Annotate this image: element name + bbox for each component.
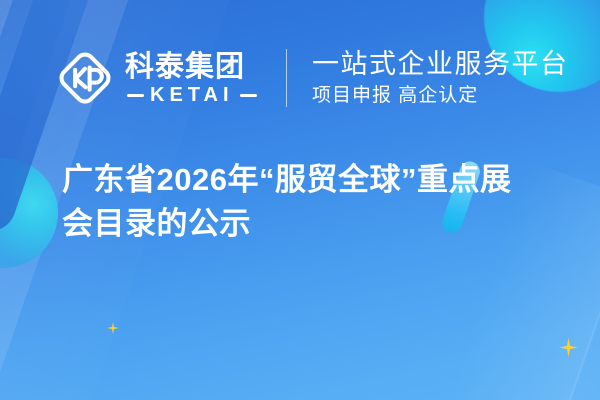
sparkle-icon <box>559 338 578 357</box>
page-title: 广东省2026年“服贸全球”重点展 会目录的公示 <box>62 158 542 246</box>
sparkle-icon <box>107 322 119 334</box>
brand-name-en: KETAI <box>150 85 234 106</box>
article-cover-banner: 科泰集团 KETAI 一站式企业服务平台 项目申报 高企认定 广东省2026年“… <box>0 0 600 400</box>
wordmark-rule-right <box>240 94 257 97</box>
wordmark-rule-left <box>127 94 144 97</box>
page-title-line-1: 广东省2026年“服贸全球”重点展 <box>62 158 542 202</box>
brand-logo: 科泰集团 KETAI <box>56 49 257 107</box>
tagline-secondary: 项目申报 高企认定 <box>312 83 569 109</box>
brand-wordmark: 科泰集团 KETAI <box>125 51 257 106</box>
banner-header: 科泰集团 KETAI 一站式企业服务平台 项目申报 高企认定 <box>0 34 600 122</box>
brand-latin-row: KETAI <box>125 85 257 106</box>
header-divider <box>286 49 288 107</box>
tagline-primary: 一站式企业服务平台 <box>312 48 569 80</box>
page-title-line-2: 会目录的公示 <box>62 202 542 246</box>
brand-name-cn: 科泰集团 <box>125 51 257 83</box>
kp-diamond-logo-icon <box>56 49 114 107</box>
cyan-circle-left <box>0 158 58 268</box>
brand-tagline: 一站式企业服务平台 项目申报 高企认定 <box>312 48 569 109</box>
